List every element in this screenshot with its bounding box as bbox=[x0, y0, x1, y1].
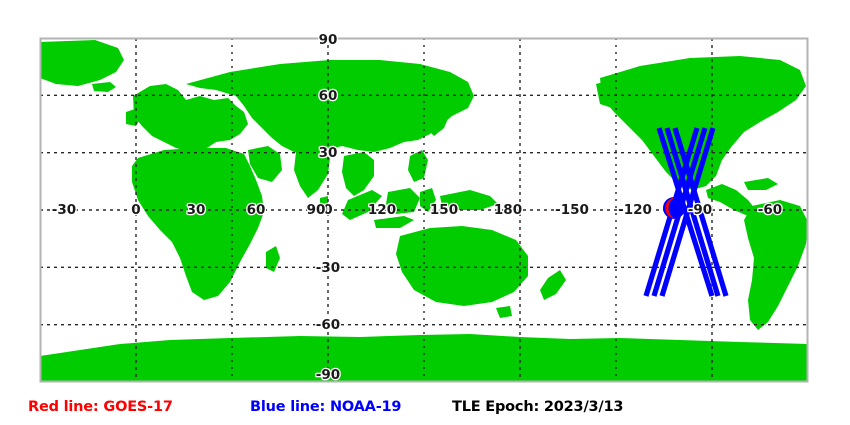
lon-label--120: -120 bbox=[618, 202, 652, 218]
legend-footer: Red line: GOES-17 Blue line: NOAA-19 TLE… bbox=[0, 390, 850, 425]
lat-label--30: -30 bbox=[316, 260, 340, 276]
lat-label-60: 60 bbox=[319, 88, 338, 104]
lon-label-0: 0 bbox=[131, 202, 140, 218]
lon-label-150: 150 bbox=[430, 202, 458, 218]
legend-tle-epoch: TLE Epoch: 2023/3/13 bbox=[452, 390, 623, 425]
lon-label-180: 180 bbox=[494, 202, 522, 218]
lat-label-30: 30 bbox=[319, 145, 338, 161]
satellite-marker-layer bbox=[663, 197, 685, 219]
lon-label-60: 60 bbox=[247, 202, 266, 218]
lon-label-30: 30 bbox=[187, 202, 206, 218]
lon-label--60: -60 bbox=[758, 202, 782, 218]
land-korea bbox=[412, 118, 424, 132]
lon-label--30: -30 bbox=[52, 202, 76, 218]
lon-label-120: 120 bbox=[368, 202, 396, 218]
lon-label-90: 90 bbox=[307, 202, 326, 218]
legend-red-line-goes17: Red line: GOES-17 bbox=[28, 390, 173, 425]
world-map-svg: 90 60 30 0 -30 -60 -90 -30 0 30 60 90 12… bbox=[0, 0, 850, 390]
lat-label-90: 90 bbox=[319, 32, 338, 48]
lon-label--90: -90 bbox=[688, 202, 712, 218]
lat-label--90: -90 bbox=[316, 367, 340, 383]
lat-label--60: -60 bbox=[316, 317, 340, 333]
legend-blue-line-noaa19: Blue line: NOAA-19 bbox=[250, 390, 401, 425]
lon-label--150: -150 bbox=[555, 202, 589, 218]
world-map-panel: 90 60 30 0 -30 -60 -90 -30 0 30 60 90 12… bbox=[0, 0, 850, 390]
satellite-track-map-page: 90 60 30 0 -30 -60 -90 -30 0 30 60 90 12… bbox=[0, 0, 850, 425]
